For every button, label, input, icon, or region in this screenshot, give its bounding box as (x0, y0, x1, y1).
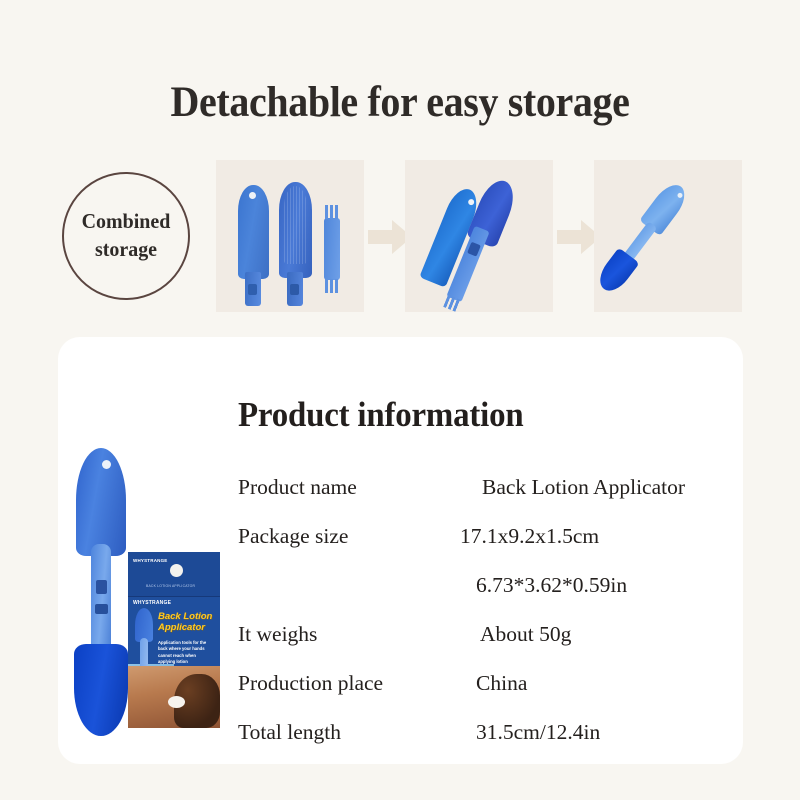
applicator-clip (96, 580, 107, 594)
box-flap-subtitle: BACK LOTION APPLICATOR (146, 584, 195, 588)
badge-line-2: storage (95, 237, 157, 261)
spec-label: Total length (238, 720, 460, 745)
retail-package-box: WHYSTRANGE BACK LOTION APPLICATOR WHYSTR… (128, 552, 220, 728)
applicator-pad (74, 644, 128, 736)
box-back-photo (128, 666, 220, 728)
table-row: 6.73*3.62*0.59in (238, 573, 718, 622)
step-panel-disassembled (216, 160, 364, 312)
box-flap-brand: WHYSTRANGE (133, 558, 168, 563)
applicator-head (76, 448, 126, 556)
combined-storage-badge-text: Combined storage (67, 208, 185, 263)
spec-value: 31.5cm/12.4in (460, 720, 600, 745)
spec-value: About 50g (460, 622, 571, 647)
applicator-connector-icon (324, 218, 340, 280)
combined-storage-badge: Combined storage (62, 172, 190, 300)
spec-value: Back Lotion Applicator (460, 475, 685, 500)
table-row: It weighs About 50g (238, 622, 718, 671)
handle-prong (443, 295, 461, 312)
applicator-stem-a-icon (245, 272, 261, 306)
box-title-line-2: Applicator (158, 622, 205, 633)
card-title: Product information (238, 395, 524, 435)
applicator-neck (91, 544, 111, 654)
table-row: Product name Back Lotion Applicator (238, 475, 718, 524)
spec-value: China (460, 671, 527, 696)
product-photo: WHYSTRANGE BACK LOTION APPLICATOR WHYSTR… (66, 440, 228, 742)
assembly-steps (216, 160, 742, 312)
assembled-applicator-icon (595, 179, 692, 295)
box-brand: WHYSTRANGE (133, 600, 171, 606)
spec-label: It weighs (238, 622, 460, 647)
applicator-clip-lower (95, 604, 108, 614)
specification-table: Product name Back Lotion Applicator Pack… (238, 475, 718, 769)
connector-prong-top (325, 205, 339, 219)
badge-line-1: Combined (82, 209, 171, 233)
step-panel-assembled (594, 160, 742, 312)
table-row: Package size 17.1x9.2x1.5cm (238, 524, 718, 573)
connector-prong-bottom (325, 279, 339, 293)
applicator-product-image (74, 448, 128, 734)
box-hang-hole-icon (170, 564, 183, 577)
applicator-paddle-ridged-icon (279, 182, 312, 278)
paddle-ridges (284, 186, 307, 264)
box-title: Back Lotion Applicator (158, 612, 218, 633)
box-description: Application tools for the back where you… (158, 640, 214, 665)
page-title: Detachable for easy storage (28, 78, 772, 127)
box-hang-flap: WHYSTRANGE BACK LOTION APPLICATOR (128, 552, 220, 597)
spec-label: Package size (238, 524, 460, 549)
applicator-paddle-smooth-icon (238, 185, 269, 279)
applicator-stem-b-icon (287, 272, 303, 306)
spec-label: Product name (238, 475, 460, 500)
spec-value: 6.73*3.62*0.59in (460, 573, 627, 598)
table-row: Production place China (238, 671, 718, 720)
step-panel-partially-assembled (405, 160, 553, 312)
box-product-head (135, 608, 153, 642)
table-row: Total length 31.5cm/12.4in (238, 720, 718, 769)
spec-value: 17.1x9.2x1.5cm (460, 524, 599, 549)
spec-label: Production place (238, 671, 460, 696)
box-title-line-1: Back Lotion (158, 611, 212, 622)
